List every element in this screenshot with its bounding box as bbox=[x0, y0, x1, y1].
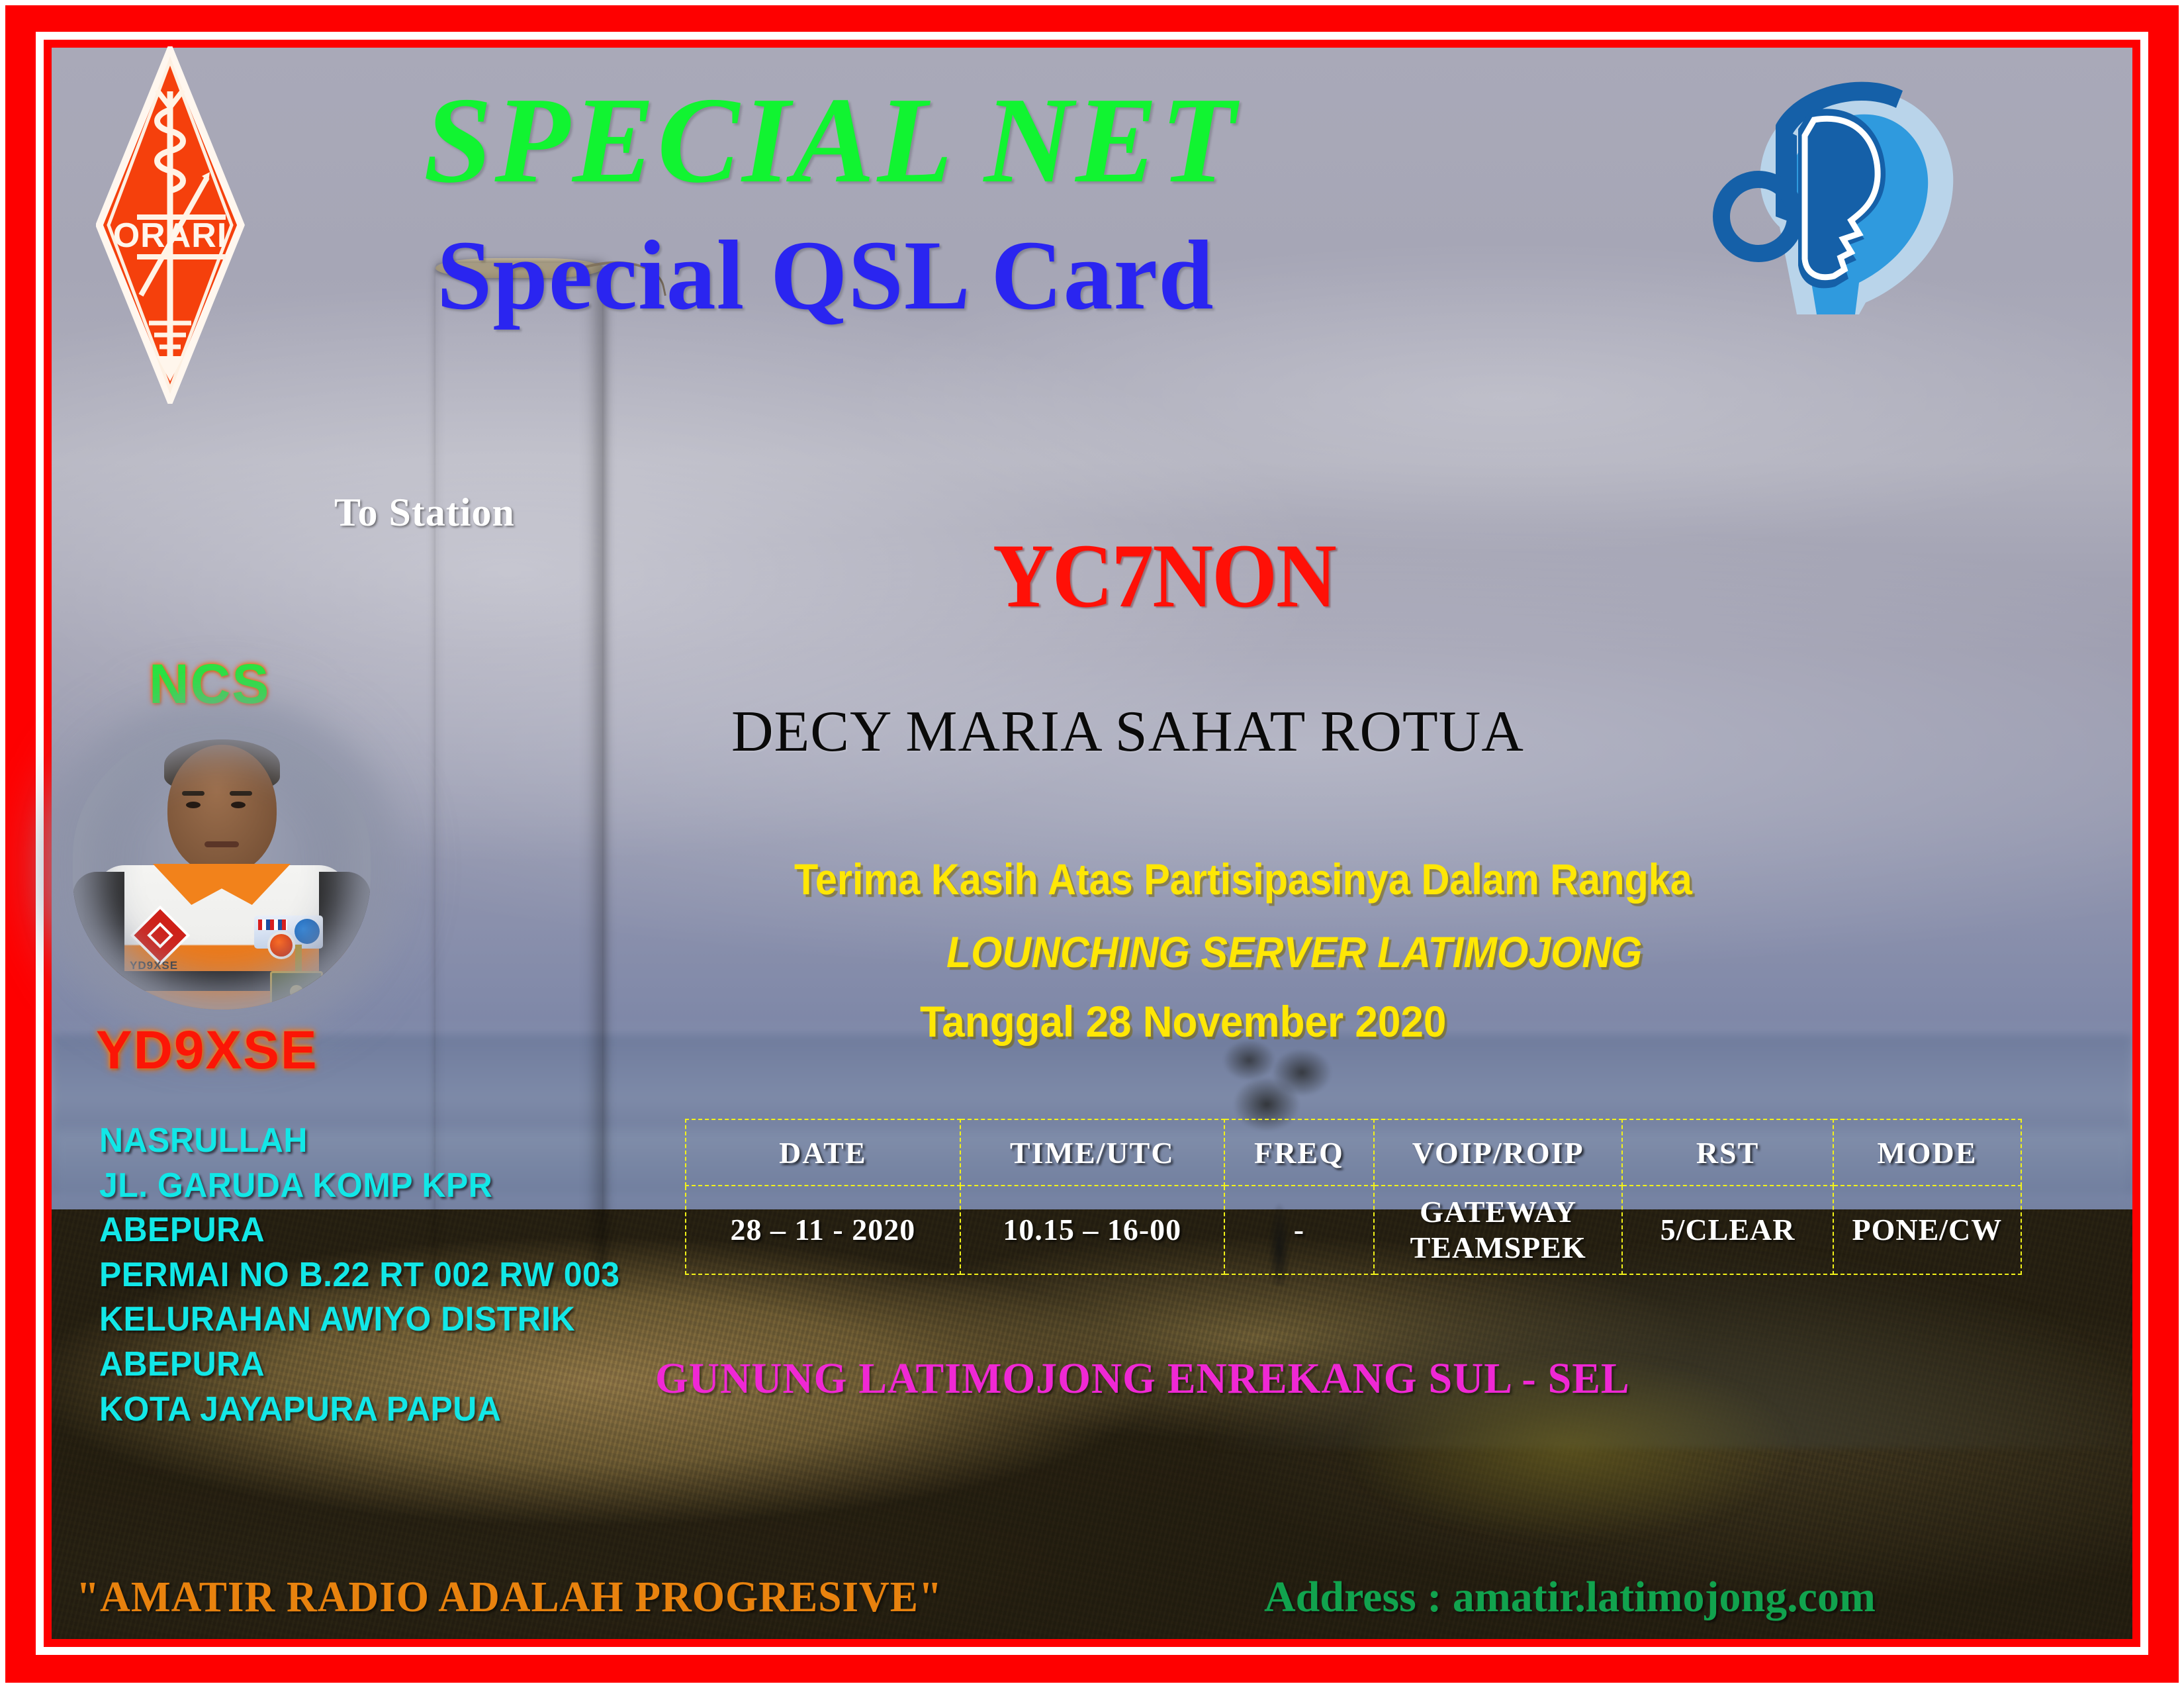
ncs-operator-photo: YD9XSE bbox=[73, 725, 371, 1009]
table-header-voip: VOIP/ROIP bbox=[1374, 1119, 1622, 1186]
svg-text:ORARI: ORARI bbox=[113, 216, 228, 255]
log-table: DATE TIME/UTC FREQ VOIP/ROIP RST MODE 28… bbox=[685, 1119, 2022, 1275]
headset-profile-logo bbox=[1698, 36, 1969, 314]
table-header-row: DATE TIME/UTC FREQ VOIP/ROIP RST MODE bbox=[686, 1119, 2021, 1186]
cell-mode: PONE/CW bbox=[1833, 1186, 2021, 1274]
address-line: ABEPURA bbox=[99, 1208, 620, 1253]
table-row: 28 – 11 - 2020 10.15 – 16-00 - GATEWAY T… bbox=[686, 1186, 2021, 1274]
mouth bbox=[205, 841, 239, 847]
table-header-time: TIME/UTC bbox=[960, 1119, 1224, 1186]
thanks-line-2: LOUNCHING SERVER LATIMOJONG bbox=[946, 927, 1642, 977]
address-block: NASRULLAH JL. GARUDA KOMP KPR ABEPURA PE… bbox=[99, 1119, 641, 1432]
uniform-medal bbox=[270, 934, 293, 957]
page-title: SPECIAL NET bbox=[424, 70, 1238, 211]
orari-logo: ORARI bbox=[96, 46, 245, 404]
ncs-callsign: YD9XSE bbox=[96, 1019, 318, 1082]
table-header-date: DATE bbox=[686, 1119, 960, 1186]
shoulder-left bbox=[73, 872, 124, 978]
cell-voip-line2: TEAMSPEK bbox=[1410, 1231, 1586, 1264]
eyebrow-left bbox=[182, 791, 205, 796]
to-station-label: To Station bbox=[334, 490, 515, 536]
cell-freq: - bbox=[1224, 1186, 1374, 1274]
operator-name: DECY MARIA SAHAT ROTUA bbox=[731, 698, 1524, 765]
cell-date: 28 – 11 - 2020 bbox=[686, 1186, 960, 1274]
table-header-rst: RST bbox=[1622, 1119, 1833, 1186]
cell-time: 10.15 – 16-00 bbox=[960, 1186, 1224, 1274]
table-header-mode: MODE bbox=[1833, 1119, 2021, 1186]
lanyard bbox=[295, 945, 302, 974]
eyebrow-right bbox=[230, 791, 252, 796]
id-card bbox=[270, 971, 323, 1009]
footer-address: Address : amatir.latimojong.com bbox=[1264, 1572, 1876, 1622]
cell-voip-line1: GATEWAY bbox=[1420, 1195, 1576, 1229]
address-line: KOTA JAYAPURA PAPUA bbox=[99, 1387, 620, 1432]
face bbox=[167, 745, 277, 874]
cell-rst: 5/CLEAR bbox=[1622, 1186, 1833, 1274]
uniform-belt bbox=[73, 971, 371, 991]
ncs-label: NCS bbox=[149, 652, 270, 716]
address-line: NASRULLAH bbox=[99, 1119, 620, 1164]
page-subtitle: Special QSL Card bbox=[437, 218, 1214, 332]
thanks-line-3: Tanggal 28 November 2020 bbox=[920, 996, 1446, 1047]
uniform-callsign-text: YD9XSE bbox=[130, 959, 178, 972]
callsign: YC7NON bbox=[993, 523, 1336, 628]
address-line: KELURAHAN AWIYO DISTRIK bbox=[99, 1297, 620, 1342]
address-line: ABEPURA bbox=[99, 1342, 620, 1387]
eye-left bbox=[186, 802, 201, 808]
shoulder-right bbox=[319, 872, 371, 978]
content-layer: ORARI SPECIAL NET Special QSL Card To St… bbox=[0, 0, 2184, 1688]
qsl-card: ORARI SPECIAL NET Special QSL Card To St… bbox=[0, 0, 2184, 1688]
address-line: JL. GARUDA KOMP KPR bbox=[99, 1164, 620, 1209]
footer-motto: "AMATIR RADIO ADALAH PROGRESIVE" bbox=[76, 1572, 942, 1622]
table-header-freq: FREQ bbox=[1224, 1119, 1374, 1186]
thanks-line-1: Terima Kasih Atas Partisipasinya Dalam R… bbox=[794, 854, 1692, 904]
eye-right bbox=[231, 802, 246, 808]
address-line: PERMAI NO B.22 RT 002 RW 003 bbox=[99, 1253, 620, 1298]
location-text: GUNUNG LATIMOJONG ENREKANG SUL - SEL bbox=[655, 1354, 1630, 1404]
cell-voip: GATEWAY TEAMSPEK bbox=[1374, 1186, 1622, 1274]
